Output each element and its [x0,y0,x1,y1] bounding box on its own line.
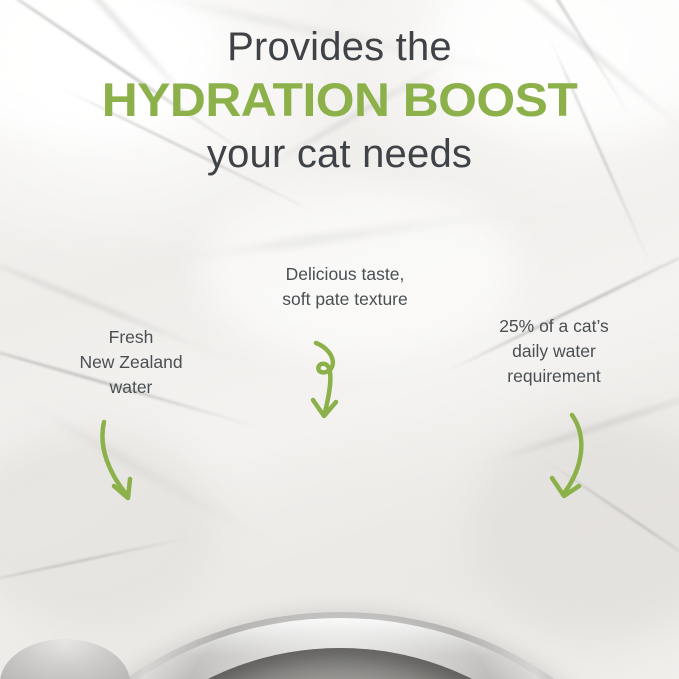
callout-right-line-1: 25% of a cat’s [474,314,634,339]
callout-left-line-1: Fresh [56,325,206,350]
headline: Provides the HYDRATION BOOST your cat ne… [0,24,679,178]
bowl-foot [0,639,130,679]
headline-line-2-accent: HYDRATION BOOST [0,72,679,128]
callout-delicious-taste: Delicious taste, soft pate texture [250,262,440,312]
callout-fresh-new-zealand-water: Fresh New Zealand water [56,325,206,400]
callout-right-line-3: requirement [474,364,634,389]
callout-daily-water-requirement: 25% of a cat’s daily water requirement [474,314,634,389]
cat-food-bowl [0,419,679,679]
callout-right-line-2: daily water [474,339,634,364]
callout-left-line-3: water [56,375,206,400]
product-infographic: Provides the HYDRATION BOOST your cat ne… [0,0,679,679]
headline-line-1: Provides the [0,24,679,70]
callout-center-line-1: Delicious taste, [250,262,440,287]
callout-left-line-2: New Zealand [56,350,206,375]
callout-center-line-2: soft pate texture [250,287,440,312]
headline-line-3: your cat needs [0,130,679,178]
